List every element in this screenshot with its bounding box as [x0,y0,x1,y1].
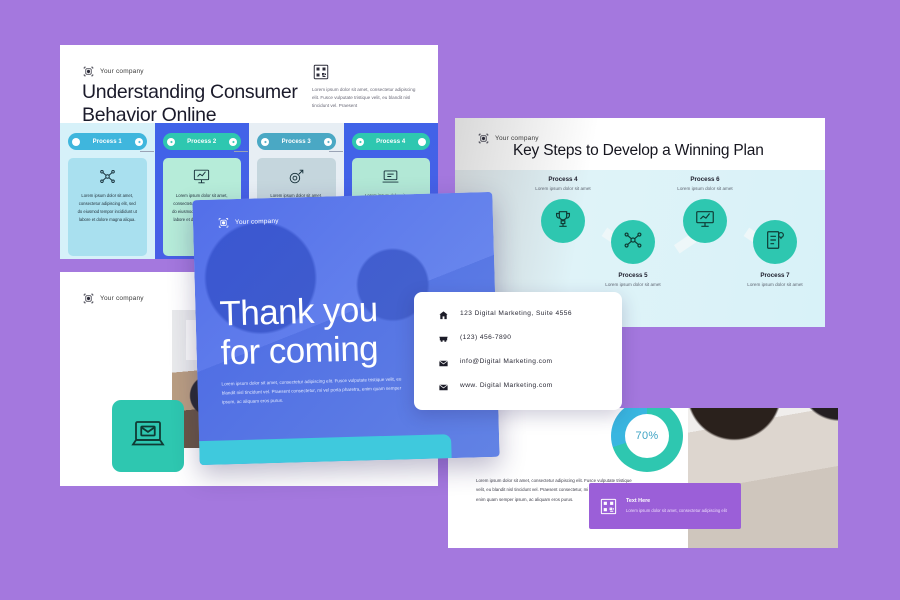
contact-row-phone[interactable]: (123) 456-7890 [438,332,622,343]
network-nodes-icon [622,229,644,256]
process-pill-3[interactable]: Process 3 [257,133,336,150]
pill-right-dot-icon [418,138,426,146]
step-caption: Lorem ipsum dolor sit amet [721,282,825,287]
process-pill-label: Process 3 [282,139,311,145]
phone-icon [438,332,449,343]
checklist-idea-icon [764,229,786,256]
pill-right-arrow-icon [135,138,143,146]
brand-label: Your company [100,68,144,75]
thank-you-line-1: Thank you [219,290,420,334]
brand-label: Your company [235,218,279,226]
process-pill-1[interactable]: Process 1 [68,133,147,150]
slide-title: Understanding Consumer Behavior Online [82,81,312,127]
contact-text: info@Digital Marketing.com [460,358,552,365]
banner-subtitle: Lorem ipsum dolor sit amet, consectetur … [626,507,727,514]
contact-text: www. Digital Marketing.com [460,382,553,389]
process-pill-2[interactable]: Process 2 [163,133,242,150]
company-mark-icon [82,65,95,78]
brand-logo: Your company [217,215,279,230]
thank-you-subtitle: Lorem ipsum dolor sit amet, consectetur … [221,374,407,407]
presentation-chart-icon [192,167,211,186]
step-caption: Lorem ipsum dolor sit amet [579,282,687,287]
trophy-icon [552,208,574,235]
pill-left-dot-icon [72,138,80,146]
network-nodes-icon [98,167,117,186]
brand-label: Your company [495,135,539,142]
slide-title: Key Steps to Develop a Winning Plan [513,142,811,160]
company-mark-icon [217,216,230,229]
mail-icon [438,380,449,391]
process-pill-4[interactable]: Process 4 [352,133,431,150]
contact-row-website[interactable]: www. Digital Marketing.com [438,380,622,391]
process-connector-line [329,151,343,152]
pill-right-arrow-icon [324,138,332,146]
step-circle [753,220,797,264]
contact-text: (123) 456-7890 [460,334,511,341]
step-circle [611,220,655,264]
thank-you-line-2: for coming [220,328,421,372]
side-note-text: Lorem ipsum dolor sit amet, consectetur … [312,86,416,110]
process-pill-label: Process 4 [376,139,405,145]
slide-side-note: Lorem ipsum dolor sit amet, consectetur … [312,63,416,110]
pill-left-arrow-icon [261,138,269,146]
brand-logo: Your company [82,292,144,305]
presentation-chart-icon [694,208,716,235]
laptop-report-icon [381,167,400,186]
process-pill-label: Process 2 [187,139,216,145]
slide-statistics[interactable]: Lorem ipsum dolor sit amet, consectetur … [448,408,838,548]
contact-card[interactable]: 123 Digital Marketing, Suite 4556 (123) … [414,292,622,410]
pill-right-arrow-icon [229,138,237,146]
brand-label: Your company [100,295,144,302]
process-pill-label: Process 1 [93,139,122,145]
thank-you-title: Thank you for coming [219,290,421,373]
pill-left-arrow-icon [356,138,364,146]
contact-row-email[interactable]: info@Digital Marketing.com [438,356,622,367]
contact-text: 123 Digital Marketing, Suite 4556 [460,310,572,317]
pill-left-arrow-icon [167,138,175,146]
step-label: Process 5 [579,272,687,279]
process-connector-line [140,151,154,152]
home-icon [438,308,449,319]
step-label: Process 7 [721,272,825,279]
donut-center-label: 70% [625,414,669,458]
feature-tile[interactable] [112,400,184,472]
step-process-7[interactable]: Process 7 Lorem ipsum dolor sit amet [721,220,825,287]
qr-code-icon [312,68,330,85]
text-banner[interactable]: Text Here Lorem ipsum dolor sit amet, co… [589,483,741,529]
banner-title: Text Here [626,498,727,504]
laptop-mail-icon [130,416,166,457]
target-growth-icon [287,167,306,186]
company-mark-icon [82,292,95,305]
step-caption: Lorem ipsum dolor sit amet [509,186,617,191]
process-card-1: Lorem ipsum dolor sit amet, consectetur … [68,158,147,256]
process-card-text: Lorem ipsum dolor sit amet, consectetur … [76,192,139,224]
contact-row-address[interactable]: 123 Digital Marketing, Suite 4556 [438,308,622,319]
presentation-mockup-canvas: Your company Understanding Consumer Beha… [0,0,900,600]
brand-logo: Your company [82,65,144,78]
qr-code-icon [599,497,618,516]
step-label: Process 6 [651,176,759,183]
mail-icon [438,356,449,367]
company-mark-icon [477,132,490,145]
process-connector-line [234,151,248,152]
step-label: Process 4 [509,176,617,183]
slide-header: Your company Key Steps to Develop a Winn… [455,118,825,170]
process-column-1[interactable]: Process 1 Lorem ipsum dolor sit a [60,123,155,259]
banner-text-block: Text Here Lorem ipsum dolor sit amet, co… [626,498,727,514]
step-caption: Lorem ipsum dolor sit amet [651,186,759,191]
